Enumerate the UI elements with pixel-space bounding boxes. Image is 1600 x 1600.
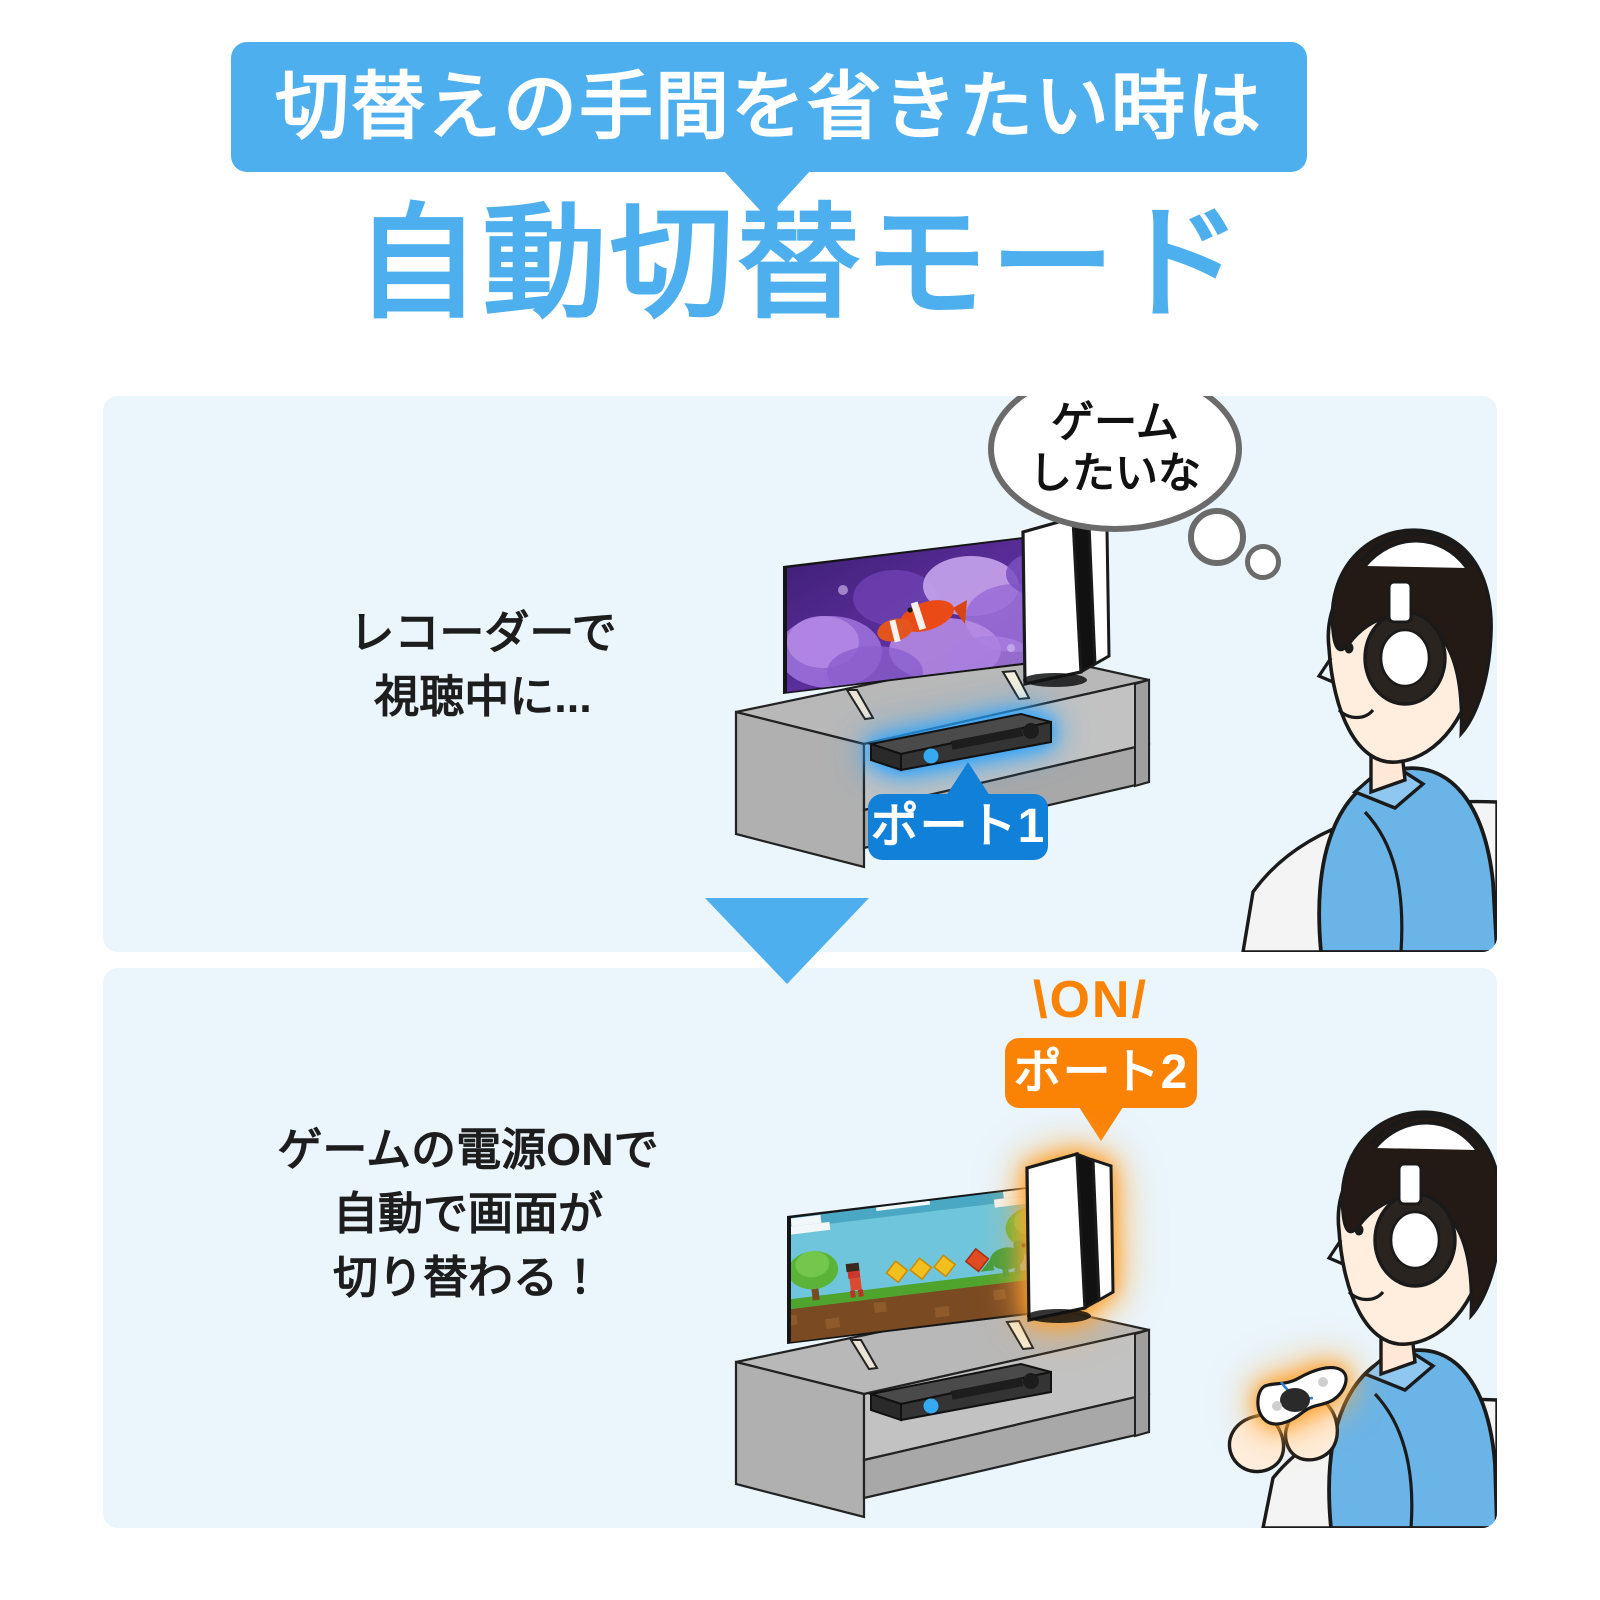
page-title: 自動切替モード	[0, 196, 1600, 332]
panel-bottom-caption-line2: 自動で画面が	[208, 1182, 728, 1246]
port2-badge-label: ポート2	[1014, 1049, 1189, 1097]
port2-badge-tail	[1079, 1107, 1123, 1141]
panel-top-caption-line2: 視聴中に...	[273, 665, 693, 729]
hdmi-switch-device	[865, 1358, 1055, 1426]
game-console	[1015, 1140, 1125, 1330]
scene-recorder-watching: レコーダーで 視聴中に...	[103, 396, 1497, 952]
header-banner-text: 切替えの手間を省きたい時は	[275, 70, 1263, 144]
infographic-root: 切替えの手間を省きたい時は 自動切替モード レコーダーで 視聴中に...	[0, 0, 1600, 1600]
on-indicator-label: ON	[1049, 971, 1131, 1029]
thought-bubble-line1: ゲーム	[1051, 398, 1179, 449]
panel-bottom-caption-line3: 切り替わる！	[208, 1246, 728, 1310]
game-console	[1011, 504, 1121, 694]
panel-top-caption-line1: レコーダーで	[273, 601, 693, 665]
step-arrow-down	[705, 898, 869, 984]
port1-badge-tail	[946, 762, 990, 796]
on-slash-right: /	[1131, 971, 1147, 1029]
on-indicator: \ON/	[1033, 974, 1148, 1026]
game-controller	[1251, 1360, 1361, 1440]
viewer-person	[1133, 462, 1497, 952]
panel-bottom-caption-line1: ゲームの電源ONで	[208, 1118, 728, 1182]
port1-badge: ポート1	[868, 794, 1048, 860]
port1-badge-label: ポート1	[871, 803, 1046, 851]
port2-badge: ポート2	[1005, 1038, 1197, 1108]
gamer-person	[1123, 1108, 1497, 1528]
panel-bottom-caption: ゲームの電源ONで 自動で画面が 切り替わる！	[208, 1118, 728, 1310]
scene-auto-switched-game: ゲームの電源ONで 自動で画面が 切り替わる！ \ON/ ポート2	[103, 968, 1497, 1528]
on-slash-left: \	[1033, 971, 1049, 1029]
panel-step-1: レコーダーで 視聴中に...	[103, 396, 1497, 952]
header-banner: 切替えの手間を省きたい時は	[231, 42, 1307, 172]
panel-step-2: ゲームの電源ONで 自動で画面が 切り替わる！ \ON/ ポート2	[103, 968, 1497, 1528]
panel-top-caption: レコーダーで 視聴中に...	[273, 601, 693, 729]
